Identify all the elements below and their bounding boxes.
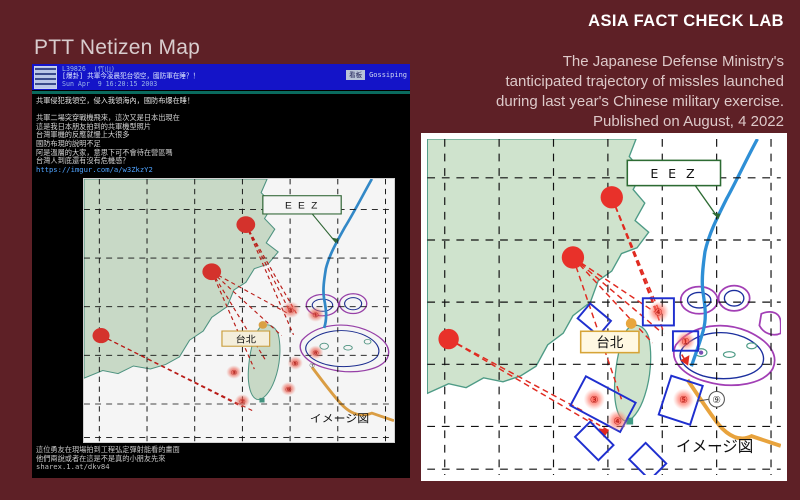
- launch-site: [236, 216, 255, 233]
- launch-site-central: [562, 246, 584, 268]
- svg-text:イメージ図: イメージ図: [310, 413, 369, 425]
- poster-canvas: ASIA FACT CHECK LAB The Japanese Defense…: [0, 0, 800, 500]
- launch-site: [93, 328, 110, 343]
- caption-block: The Japanese Defense Ministry's tanticip…: [364, 52, 784, 132]
- svg-text:②: ②: [239, 397, 246, 405]
- impact-marker-label: ④: [613, 417, 622, 428]
- svg-text:④: ④: [288, 306, 295, 314]
- impact-marker-label: ①: [681, 337, 690, 348]
- svg-text:①: ①: [312, 311, 319, 319]
- image-note-text: イメージ図: [676, 438, 753, 456]
- brand-title: ASIA FACT CHECK LAB: [588, 12, 784, 31]
- ptt-board-chip: 看板: [346, 70, 365, 80]
- impact-marker-label: ③: [590, 395, 599, 406]
- launch-site-inland: [438, 329, 458, 349]
- ptt-screenshot: L39826 (竹山) [爆卦] 共軍今凌晨犯台領空，國防軍在睡？！ Sun A…: [32, 64, 410, 478]
- page-title: PTT Netizen Map: [34, 36, 200, 60]
- eez-label-text: E E Z: [650, 166, 697, 181]
- map-svg-left: ④ ① ⑧ ⑤ ③ ⑨ ② ⑦ 台北 E E Z イメージ図: [84, 179, 394, 442]
- taipei-marker: [626, 318, 637, 329]
- ptt-divider: [32, 91, 410, 94]
- ptt-embedded-map: ④ ① ⑧ ⑤ ③ ⑨ ② ⑦ 台北 E E Z イメージ図: [83, 178, 395, 443]
- ptt-body-line-0: 共軍侵犯我領空，侵入我領海內，國防布爆在睡！: [36, 96, 194, 105]
- ptt-footer-text: 這位勇友在現場拍到工程弘定彈射能看的畫面 他們兩說或者在這是不是真的小朋友先來 …: [36, 446, 402, 472]
- svg-text:③: ③: [230, 369, 237, 377]
- svg-text:⑤: ⑤: [292, 359, 299, 367]
- ptt-header-bar: L39826 (竹山) [爆卦] 共軍今凌晨犯台領空，國防軍在睡？！ Sun A…: [32, 64, 410, 90]
- caption-line-3: during last year's Chinese military exer…: [364, 92, 784, 112]
- ptt-foot-link[interactable]: sharex.1.at/dkv84: [36, 462, 110, 471]
- ptt-body-link[interactable]: https://imgur.com/a/w3ZkzY2: [36, 165, 153, 174]
- svg-text:⑦: ⑦: [309, 362, 315, 370]
- range-label: ⑨: [712, 395, 721, 406]
- svg-text:E E Z: E E Z: [285, 201, 319, 211]
- map-svg-right: ④ ① ⑤ ③ ④ ⑨ 台北: [427, 139, 781, 475]
- defense-ministry-map: ④ ① ⑤ ③ ④ ⑨ 台北: [422, 134, 786, 480]
- caption-line-1: The Japanese Defense Ministry's: [364, 52, 784, 72]
- ptt-avatar-icon: [34, 66, 57, 89]
- impact-marker-label: ⑤: [679, 395, 688, 406]
- svg-text:⑧: ⑧: [312, 349, 319, 357]
- caption-line-2: tanticipated trajectory of missles launc…: [364, 72, 784, 92]
- launch-site-north: [601, 186, 623, 208]
- launch-site: [202, 263, 221, 280]
- impact-marker-label: ④: [654, 308, 663, 319]
- ptt-board-indicator: 看板 Gossiping: [346, 70, 407, 80]
- taipei-label-text: 台北: [596, 335, 624, 351]
- svg-text:台北: 台北: [236, 333, 257, 345]
- ptt-post-body: 共軍侵犯我領空，侵入我領海內，國防布爆在睡！ 共軍二場突穿戰機飛來，這次又是日本…: [36, 97, 402, 174]
- ptt-board-name: Gossiping: [369, 71, 407, 79]
- caption-line-4: Published on August, 4 2022: [364, 112, 784, 132]
- svg-text:⑨: ⑨: [285, 385, 292, 393]
- map-surface: ④ ① ⑤ ③ ④ ⑨ 台北: [427, 139, 781, 475]
- ptt-meta-line-3: Sun Apr 9 16:20:15 2003: [62, 80, 157, 88]
